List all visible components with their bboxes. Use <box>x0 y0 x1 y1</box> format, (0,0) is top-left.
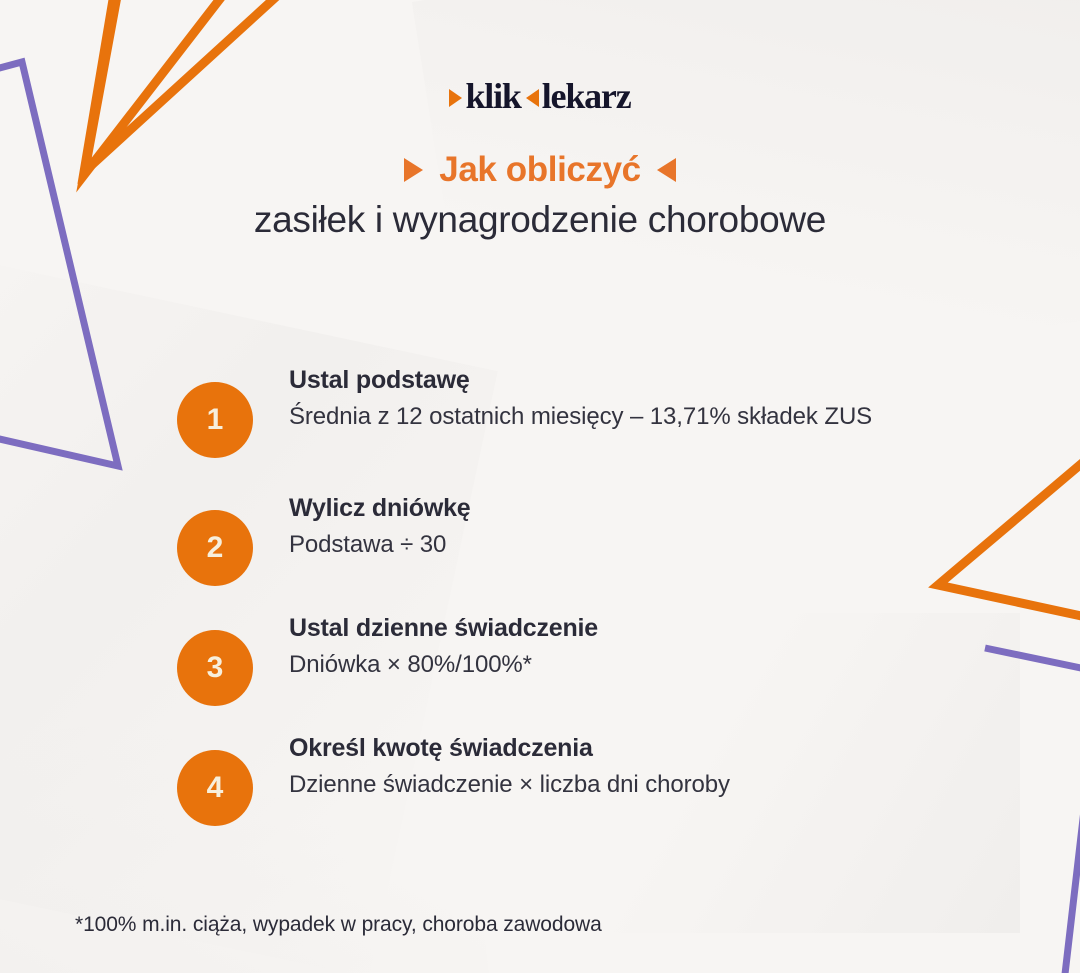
triangle-right-icon <box>449 89 462 107</box>
list-item: 1 Ustal podstawę Średnia z 12 ostatnich … <box>177 360 1037 458</box>
list-item: 3 Ustal dzienne świadczenie Dniówka × 80… <box>177 608 1037 706</box>
page-headline: Jak obliczyć zasiłek i wynagrodzenie cho… <box>0 148 1080 243</box>
footnote-text: *100% m.in. ciąża, wypadek w pracy, chor… <box>75 913 602 937</box>
step-body: Ustal podstawę Średnia z 12 ostatnich mi… <box>289 360 872 435</box>
step-body: Ustal dzienne świadczenie Dniówka × 80%/… <box>289 608 598 683</box>
step-number-badge: 2 <box>177 510 253 586</box>
triangle-right-icon <box>404 158 423 182</box>
step-number-badge: 3 <box>177 630 253 706</box>
steps-list: 1 Ustal podstawę Średnia z 12 ostatnich … <box>177 360 1037 852</box>
step-body: Wylicz dniówkę Podstawa ÷ 30 <box>289 488 471 563</box>
step-body: Określ kwotę świadczenia Dzienne świadcz… <box>289 728 730 803</box>
purple-v-top-left <box>0 62 118 466</box>
triangle-left-icon <box>526 89 539 107</box>
brand-logo[interactable]: klik lekarz <box>0 78 1080 114</box>
list-item: 2 Wylicz dniówkę Podstawa ÷ 30 <box>177 488 1037 586</box>
step-title: Ustal podstawę <box>289 364 872 398</box>
logo-word-lekarz: lekarz <box>542 78 631 114</box>
triangle-left-icon <box>657 158 676 182</box>
step-number-badge: 4 <box>177 750 253 826</box>
list-item: 4 Określ kwotę świadczenia Dzienne świad… <box>177 728 1037 826</box>
step-description: Średnia z 12 ostatnich miesięcy – 13,71%… <box>289 400 872 435</box>
logo-word-klik: klik <box>465 78 520 114</box>
headline-main-text: zasiłek i wynagrodzenie chorobowe <box>0 196 1080 243</box>
headline-accent-row: Jak obliczyć <box>0 148 1080 192</box>
step-title: Wylicz dniówkę <box>289 492 471 526</box>
step-description: Dniówka × 80%/100%* <box>289 648 598 683</box>
infographic-canvas: klik lekarz Jak obliczyć zasiłek i wynag… <box>0 0 1080 973</box>
step-title: Określ kwotę świadczenia <box>289 732 730 766</box>
step-number-badge: 1 <box>177 382 253 458</box>
step-description: Podstawa ÷ 30 <box>289 528 471 563</box>
step-description: Dzienne świadczenie × liczba dni choroby <box>289 768 730 803</box>
headline-accent-text: Jak obliczyć <box>439 148 640 192</box>
step-title: Ustal dzienne świadczenie <box>289 612 598 646</box>
